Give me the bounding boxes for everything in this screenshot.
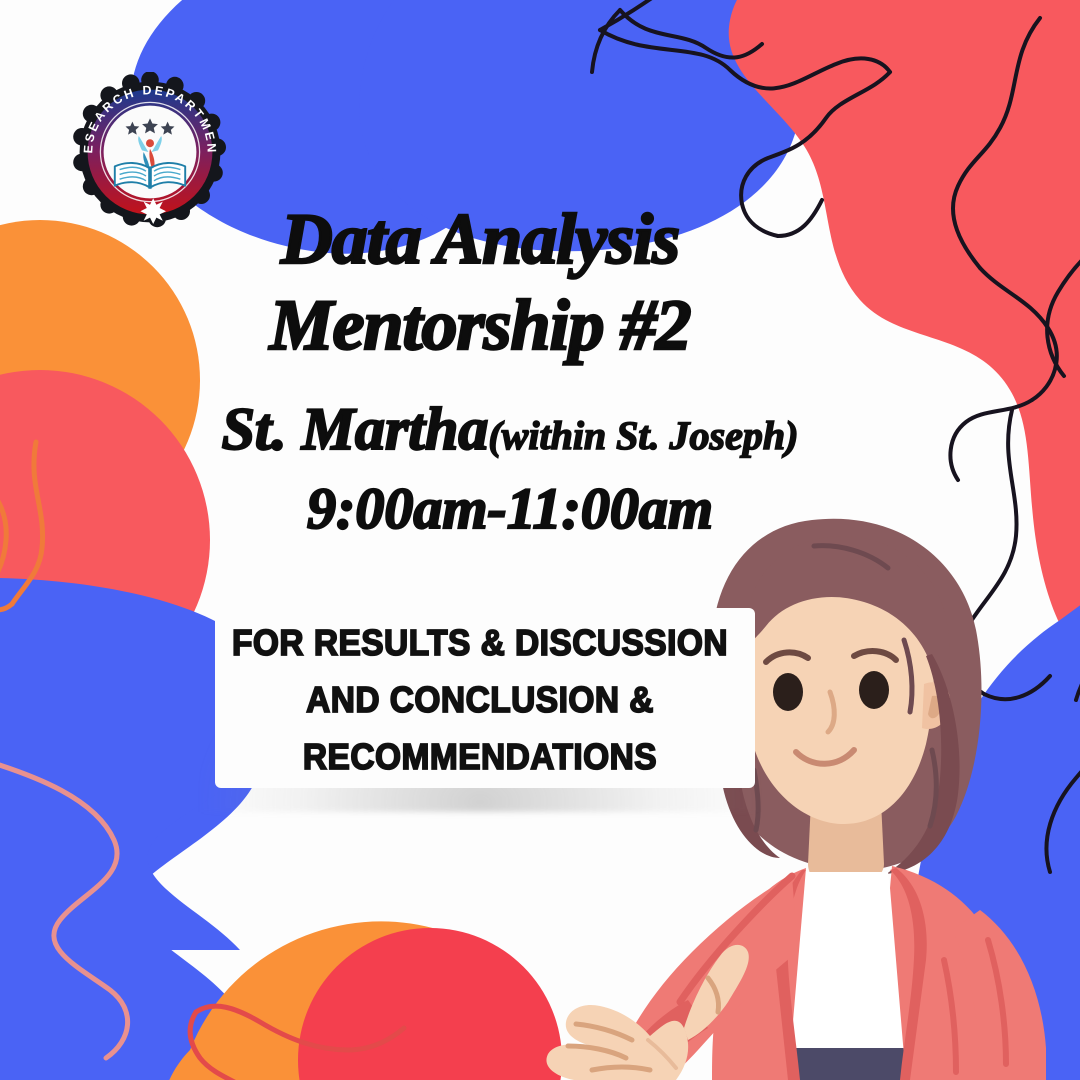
woman-presenter-illustration bbox=[440, 440, 1080, 1080]
research-department-logo: RESEARCH DEPARTMENT bbox=[70, 72, 230, 232]
poster-canvas: RESEARCH DEPARTMENT bbox=[0, 0, 1080, 1080]
skirt bbox=[788, 1048, 916, 1080]
logo-cross-emblem bbox=[140, 198, 166, 224]
